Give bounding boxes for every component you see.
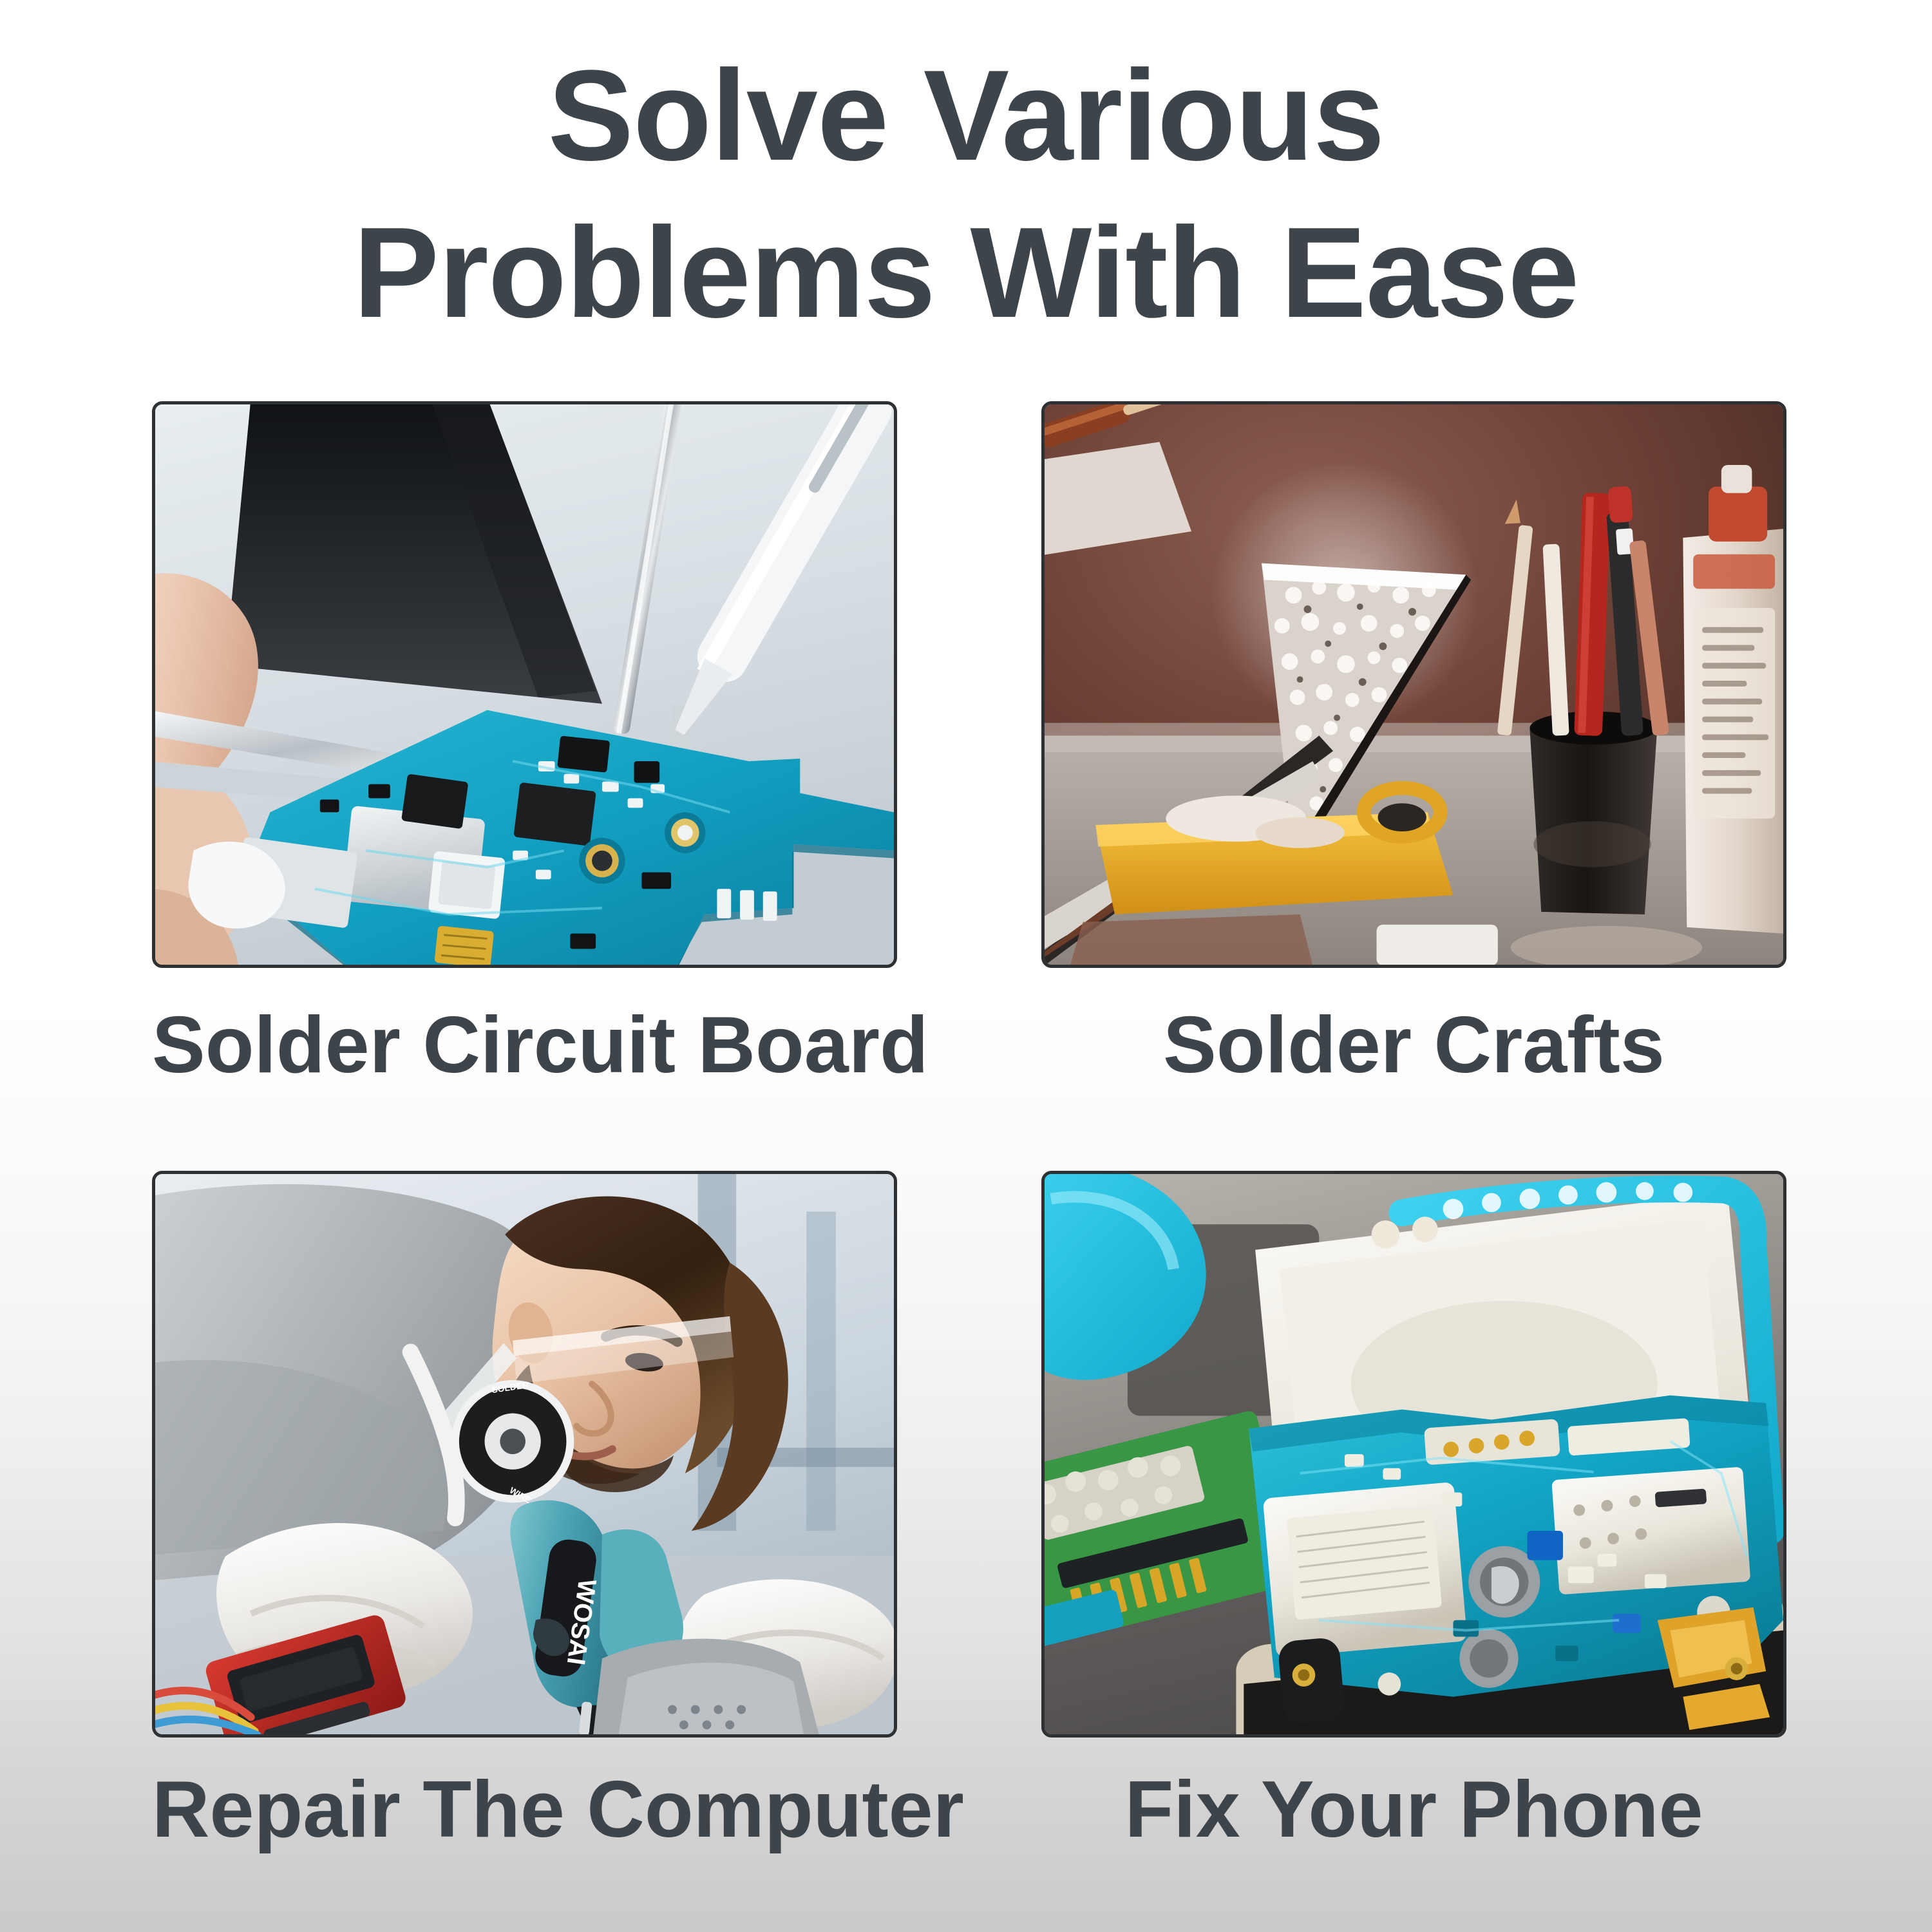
feature-card-fix-your-phone: Fix Your Phone [1041, 1171, 1786, 1853]
caption-fix-your-phone: Fix Your Phone [1041, 1767, 1786, 1853]
illustration-fix-your-phone [1045, 1174, 1783, 1734]
caption-repair-the-computer: Repair The Computer [152, 1767, 897, 1853]
photo-repair-the-computer: SOLDER WIRE [152, 1171, 897, 1738]
illustration-solder-crafts [1045, 404, 1783, 965]
photo-fix-your-phone [1041, 1171, 1786, 1738]
photo-solder-circuit-board [152, 401, 897, 968]
caption-solder-crafts: Solder Crafts [1041, 1003, 1786, 1089]
infographic-page: Solve Various Problems With Ease [0, 0, 1932, 1932]
illustration-repair-the-computer: SOLDER WIRE [155, 1174, 894, 1734]
illustration-solder-circuit-board [155, 404, 894, 965]
caption-solder-circuit-board: Solder Circuit Board [152, 1003, 897, 1089]
photo-solder-crafts [1041, 401, 1786, 968]
feature-grid: Solder Circuit Board [0, 0, 1932, 1932]
feature-card-solder-crafts: Solder Crafts [1041, 401, 1786, 1089]
feature-card-repair-the-computer: SOLDER WIRE [152, 1171, 897, 1853]
feature-card-solder-circuit-board: Solder Circuit Board [152, 401, 897, 1089]
